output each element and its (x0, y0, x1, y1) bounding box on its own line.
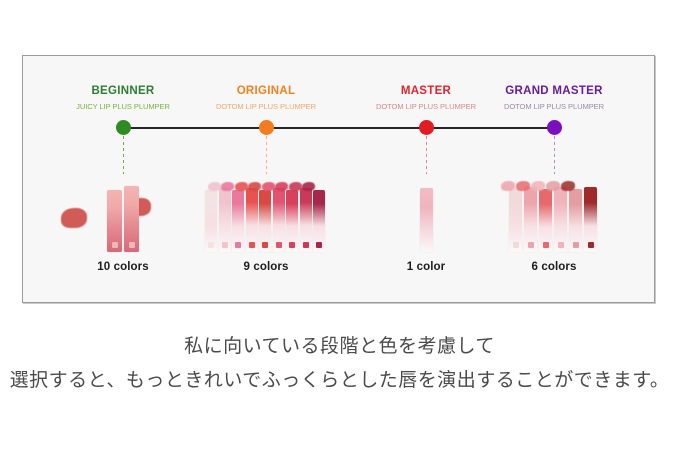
caption-block: 私に向いている段階と色を考慮して 選択すると、もっときれいでふっくらとした唇を演… (0, 330, 679, 398)
lipstick-tube (509, 189, 522, 252)
lip-swatch (302, 182, 315, 191)
stage-subtitle-beginner: JUICY LIP PLUS PLUMPER (43, 101, 203, 112)
lip-swatch (516, 181, 530, 191)
lip-swatch (208, 182, 221, 191)
tube-sticker (303, 242, 309, 248)
color-count-grand-master: 6 colors (464, 261, 644, 273)
lipstick-tube (232, 190, 244, 252)
lipstick-tube (584, 187, 597, 252)
stage-subtitle-grand-master: DOTOM LIP PLUS PLUMPER (474, 101, 634, 112)
lipstick-tube (524, 187, 537, 252)
tube-sticker (573, 242, 579, 248)
tube-sticker (262, 242, 268, 248)
product-image-original (176, 174, 356, 252)
color-count-original: 9 colors (176, 261, 356, 273)
timeline-stage-original[interactable]: ORIGINAL DOTOM LIP PLUS PLUMPER (186, 56, 346, 112)
timeline-axis (123, 127, 554, 129)
lipstick-tube (246, 188, 258, 252)
stage-dot-beginner[interactable] (116, 120, 131, 135)
tube-sticker (289, 242, 295, 248)
tube-sticker (588, 242, 594, 248)
stage-dot-original[interactable] (259, 120, 274, 135)
lipstick-tube (313, 190, 325, 252)
stage-title-grand-master: GRAND MASTER (474, 84, 634, 98)
stage-dot-master[interactable] (419, 120, 434, 135)
lip-swatch (501, 181, 515, 191)
stage-connector-grand-master (554, 136, 555, 174)
tube-sticker (423, 242, 429, 248)
lipstick-tube (300, 188, 312, 252)
caption-line-1: 私に向いている段階と色を考慮して (0, 330, 679, 364)
stage-connector-original (266, 136, 267, 174)
caption-line-2: 選択すると、もっときれいでふっくらとした唇を演出することができます。 (0, 364, 679, 398)
stage-dot-grand-master[interactable] (547, 120, 562, 135)
tube-sticker (112, 242, 118, 248)
lipstick-tube (554, 187, 567, 252)
tube-sticker (235, 242, 241, 248)
lipstick-tube (107, 190, 122, 252)
stage-connector-beginner (123, 136, 124, 174)
lip-swatch (235, 182, 248, 191)
lip-swatch (561, 181, 575, 191)
lipstick-tube (420, 188, 433, 252)
tube-sticker (558, 242, 564, 248)
stage-subtitle-original: DOTOM LIP PLUS PLUMPER (186, 101, 346, 112)
tube-sticker (208, 242, 214, 248)
tube-sticker (249, 242, 255, 248)
tube-sticker (129, 242, 135, 248)
stage-title-beginner: BEGINNER (43, 84, 203, 98)
lip-swatch (289, 182, 302, 191)
product-image-grand-master (464, 174, 644, 252)
lipstick-tube (539, 189, 552, 252)
lip-swatch (275, 182, 288, 191)
lip-swatch (531, 181, 545, 191)
tube-sticker (543, 242, 549, 248)
tube-sticker (316, 242, 322, 248)
lipstick-tube (259, 190, 271, 252)
infographic-panel: BEGINNER JUICY LIP PLUS PLUMPER ORIGINAL… (22, 55, 655, 303)
stage-title-original: ORIGINAL (186, 84, 346, 98)
stage-connector-master (426, 136, 427, 174)
lipstick-tube (286, 190, 298, 252)
lipstick-tube (205, 190, 217, 252)
tube-sticker (222, 242, 228, 248)
lip-swatch (221, 182, 234, 191)
lip-swatch (546, 181, 560, 191)
timeline-stage-grand-master[interactable]: GRAND MASTER DOTOM LIP PLUS PLUMPER (474, 56, 634, 112)
tube-sticker (528, 242, 534, 248)
lipstick-tube (124, 186, 139, 252)
lipstick-tube (569, 189, 582, 252)
lip-swatch (248, 182, 261, 191)
lipstick-tube (273, 188, 285, 252)
lip-swatch (61, 208, 87, 228)
tube-sticker (513, 242, 519, 248)
lip-swatch (262, 182, 275, 191)
product-group-grand-master[interactable]: 6 colors (464, 174, 644, 273)
tube-sticker (276, 242, 282, 248)
product-group-original[interactable]: 9 colors (176, 174, 356, 273)
timeline-stage-beginner[interactable]: BEGINNER JUICY LIP PLUS PLUMPER (43, 56, 203, 112)
lipstick-tube (219, 188, 231, 252)
